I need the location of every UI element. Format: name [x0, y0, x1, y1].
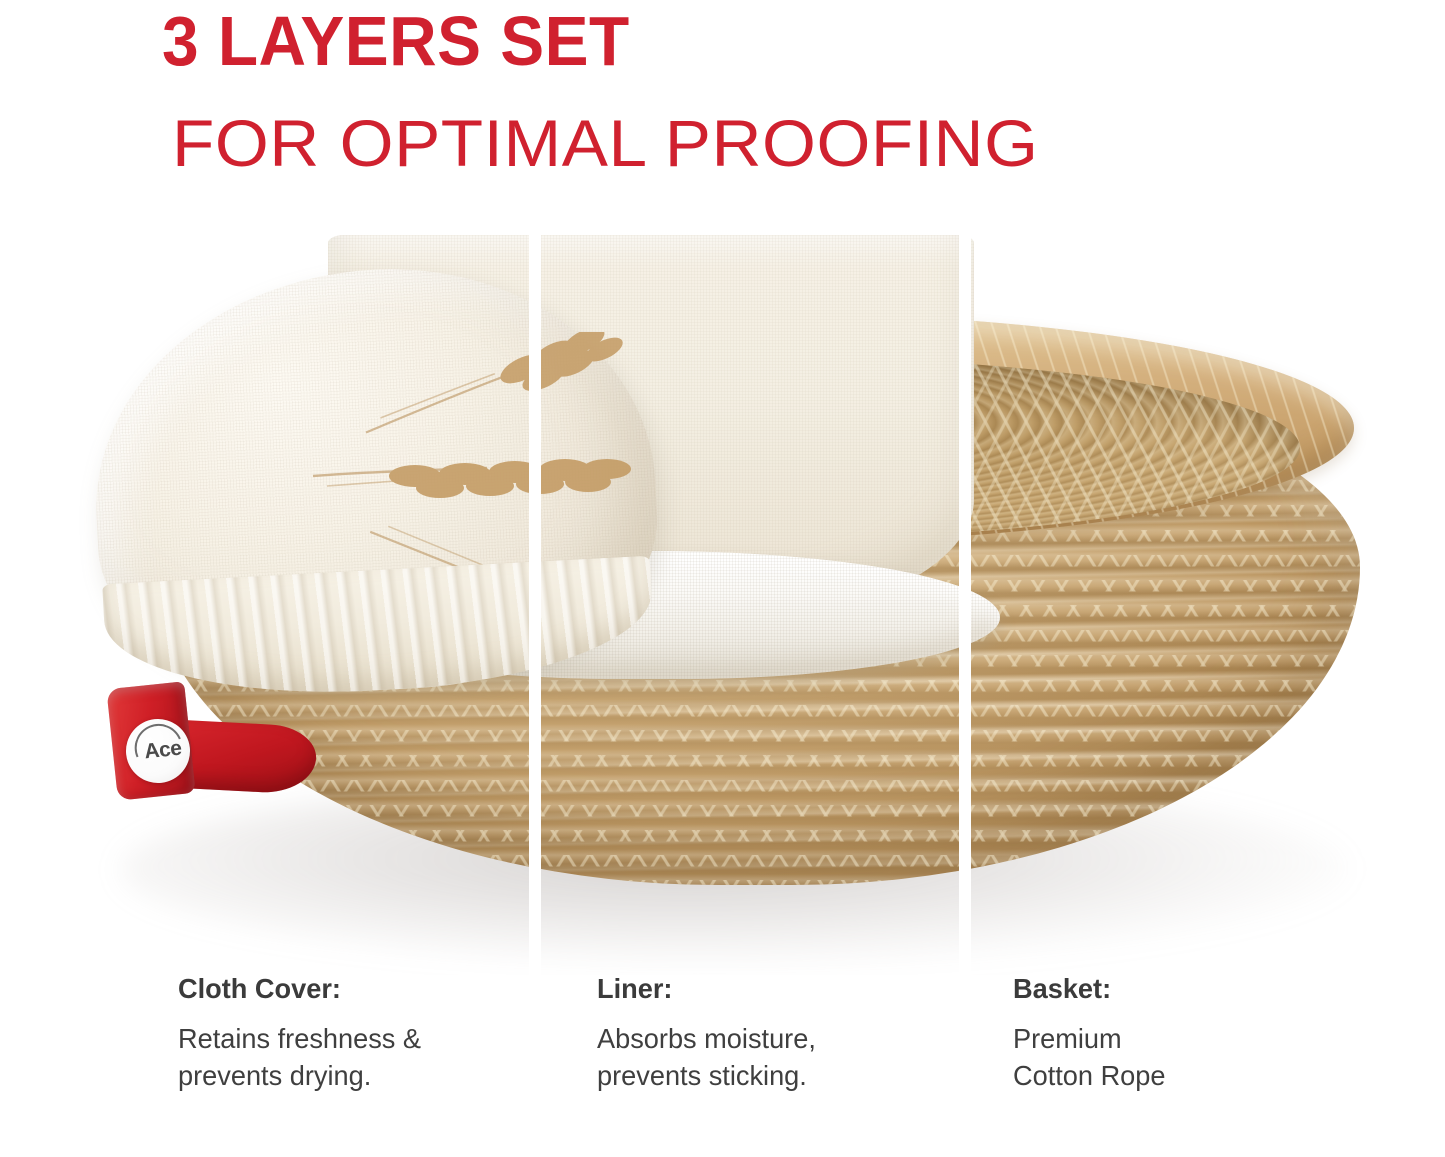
panel-divider-1	[529, 215, 541, 975]
caption-body-line-1: Premium	[1013, 1020, 1401, 1057]
caption-basket: Basket: Premium Cotton Rope	[1013, 975, 1413, 1094]
headline-block: 3 LAYERS SET FOR OPTIMAL PROOFING	[0, 0, 1445, 215]
caption-title: Basket:	[1013, 975, 1401, 1003]
caption-cloth-cover: Cloth Cover: Retains freshness & prevent…	[178, 975, 578, 1094]
brand-tab: Ace	[112, 685, 317, 800]
caption-body-line-1: Absorbs moisture,	[597, 1020, 985, 1057]
caption-title: Liner:	[597, 975, 985, 1003]
caption-body-line-2: prevents sticking.	[597, 1057, 985, 1094]
caption-body-line-2: prevents drying.	[178, 1057, 566, 1094]
caption-body-line-2: Cotton Rope	[1013, 1057, 1401, 1094]
caption-liner: Liner: Absorbs moisture, prevents sticki…	[597, 975, 997, 1094]
caption-body-line-1: Retains freshness &	[178, 1020, 566, 1057]
cloth-cover-layer	[95, 270, 655, 740]
headline-secondary: FOR OPTIMAL PROOFING	[172, 110, 1039, 176]
caption-body: Absorbs moisture, prevents sticking.	[597, 1020, 985, 1094]
caption-row: Cloth Cover: Retains freshness & prevent…	[0, 975, 1445, 1157]
product-photo: Ace	[0, 215, 1445, 975]
headline-primary: 3 LAYERS SET	[162, 6, 630, 76]
panel-divider-2	[959, 215, 971, 975]
caption-body: Premium Cotton Rope	[1013, 1020, 1401, 1094]
caption-title: Cloth Cover:	[178, 975, 566, 1003]
caption-body: Retains freshness & prevents drying.	[178, 1020, 566, 1094]
